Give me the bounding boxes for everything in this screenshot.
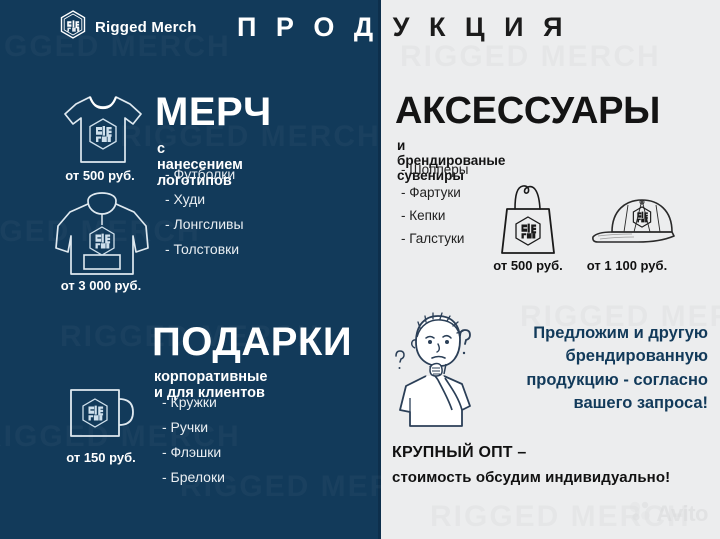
list-item: - Флэшки [162,444,225,460]
poster-header: Rigged Merch П Р О Д У К Ц И Я П Р О Д У… [0,0,720,62]
list-item: - Кружки [162,394,225,410]
merch-item-list: - Футболки - Худи - Лонгсливы - Толстовк… [165,166,244,266]
accessories-title: АКСЕССУАРЫ [395,92,660,130]
accessories-item-list: - Шопперы - Фартуки - Кепки - Галстуки [401,162,468,254]
shopper-bag-price: от 500 руб. [478,258,578,273]
gifts-title: ПОДАРКИ [152,322,352,362]
list-item: - Худи [165,191,244,207]
list-item: - Кепки [401,208,468,223]
list-item: - Фартуки [401,185,468,200]
wholesale-headline: КРУПНЫЙ ОПТ – [392,444,712,462]
gifts-item-list: - Кружки - Ручки - Флэшки - Брелоки [162,394,225,494]
merch-title: МЕРЧ [155,92,272,132]
wholesale-subline: стоимость обсудим индивидуально! [392,469,712,486]
hoodie-icon [52,192,152,285]
promo-line: Предложим и другую [470,322,708,345]
promo-line: вашего запроса! [470,392,708,415]
promo-text: Предложим и другую брендированную продук… [470,322,708,416]
list-item: - Футболки [165,166,244,182]
brand-lockup: Rigged Merch [60,10,197,44]
shopper-bag-icon [493,183,563,262]
list-item: - Галстуки [401,231,468,246]
promo-line: брендированную [470,345,708,368]
thinking-person-icon [390,306,480,433]
list-item: - Брелоки [162,469,225,485]
avito-wordmark: Avito [656,501,708,527]
avito-watermark: Avito [629,500,708,527]
mug-price: от 150 руб. [52,450,150,465]
list-item: - Ручки [162,419,225,435]
list-item: - Лонгсливы [165,216,244,232]
list-item: - Толстовки [165,241,244,257]
hexagon-rigged-logo-icon [60,10,86,44]
panel-divider [378,0,381,539]
product-poster: RIGGED MERCH RIGGED MERCH RIGGED MERCH R… [0,0,720,539]
hoodie-price: от 3 000 руб. [42,278,160,293]
avito-dots-icon [629,500,651,527]
mug-icon [63,382,143,449]
list-item: - Шопперы [401,162,468,177]
cap-price: от 1 100 руб. [572,258,682,273]
wholesale-note: КРУПНЫЙ ОПТ – стоимость обсудим индивиду… [392,444,712,486]
cap-icon [588,196,692,257]
promo-line: продукцию - согласно [470,369,708,392]
tshirt-icon [60,92,146,171]
tshirt-price: от 500 руб. [50,168,150,183]
brand-name: Rigged Merch [95,19,197,36]
